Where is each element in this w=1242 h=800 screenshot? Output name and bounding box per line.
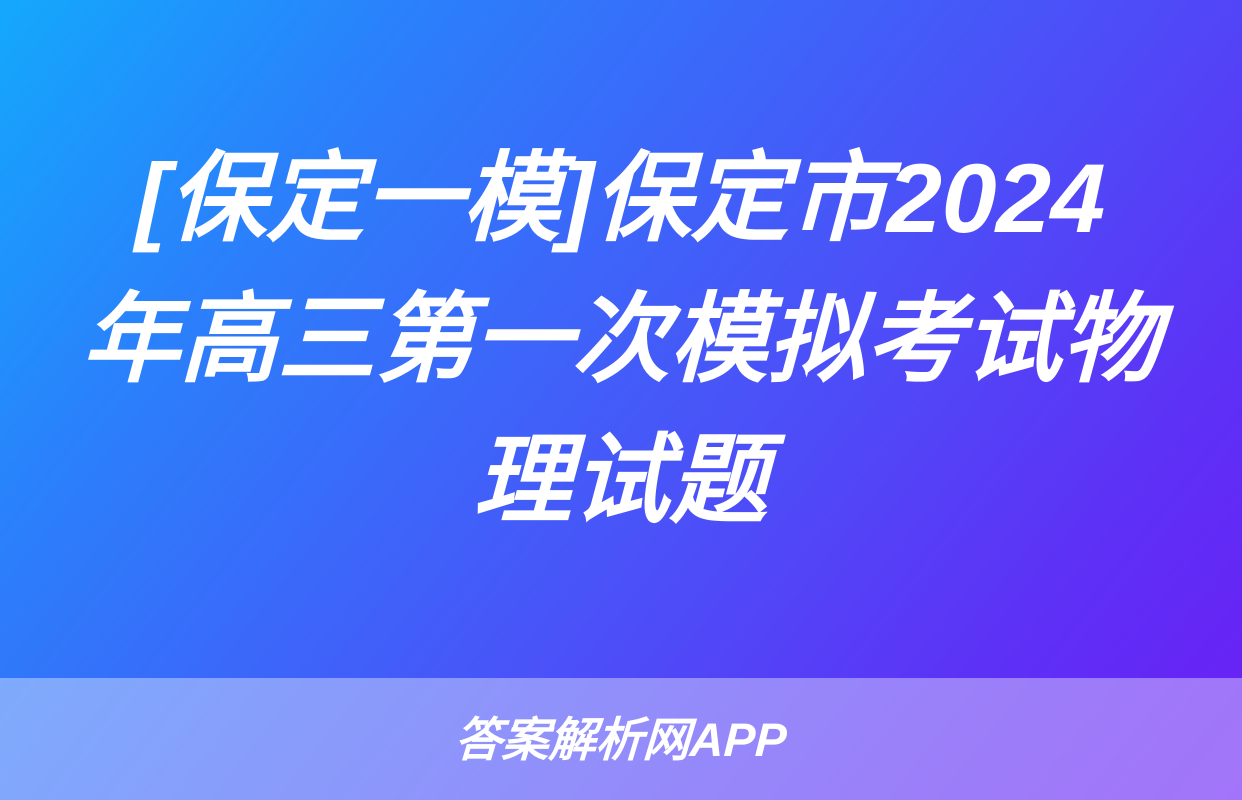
app-watermark-label: 答案解析网APP [454,716,788,763]
title-line-1: [保定一模]保定市2024 [135,128,1107,269]
title-block: [保定一模]保定市2024 年高三第一次模拟考试物 理试题 [0,0,1242,678]
footer-band: 答案解析网APP [0,678,1242,800]
title-line-3: 理试题 [473,410,769,551]
title-line-2: 年高三第一次模拟考试物 [81,269,1161,410]
poster-canvas: [保定一模]保定市2024 年高三第一次模拟考试物 理试题 答案解析网APP [0,0,1242,800]
